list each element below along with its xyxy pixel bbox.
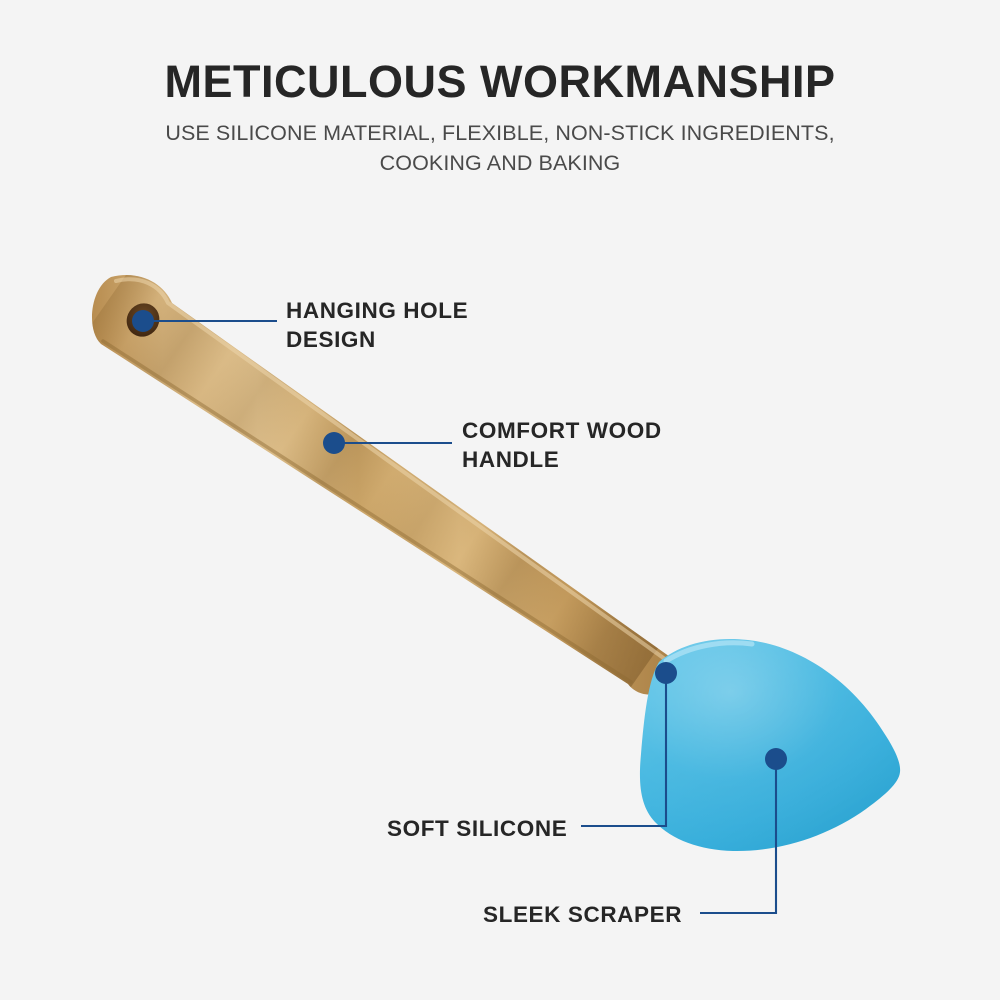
product-illustration — [0, 0, 1000, 1000]
product-infographic: METICULOUS WORKMANSHIP USE SILICONE MATE… — [0, 0, 1000, 1000]
handle-shadow-edge — [103, 341, 631, 682]
callout-wood-handle-line-2: HANDLE — [462, 446, 662, 475]
callout-wood-handle: COMFORT WOOD HANDLE — [462, 417, 662, 474]
callout-hanging-hole: HANGING HOLE DESIGN — [286, 297, 468, 354]
callout-sleek-scraper-line-1: SLEEK SCRAPER — [483, 901, 682, 930]
callout-soft-silicone: SOFT SILICONE — [387, 815, 567, 844]
marker-dot-sleek-scraper[interactable] — [765, 748, 787, 770]
marker-dot-wood-handle[interactable] — [323, 432, 345, 454]
silicone-blade — [640, 639, 900, 851]
callout-wood-handle-line-1: COMFORT WOOD — [462, 417, 662, 446]
callout-sleek-scraper: SLEEK SCRAPER — [483, 901, 682, 930]
blade-sheen — [640, 639, 900, 851]
marker-dot-hanging-hole[interactable] — [132, 310, 154, 332]
marker-dot-soft-silicone[interactable] — [655, 662, 677, 684]
callout-hanging-hole-line-1: HANGING HOLE — [286, 297, 468, 326]
callout-soft-silicone-line-1: SOFT SILICONE — [387, 815, 567, 844]
callout-hanging-hole-line-2: DESIGN — [286, 326, 468, 355]
